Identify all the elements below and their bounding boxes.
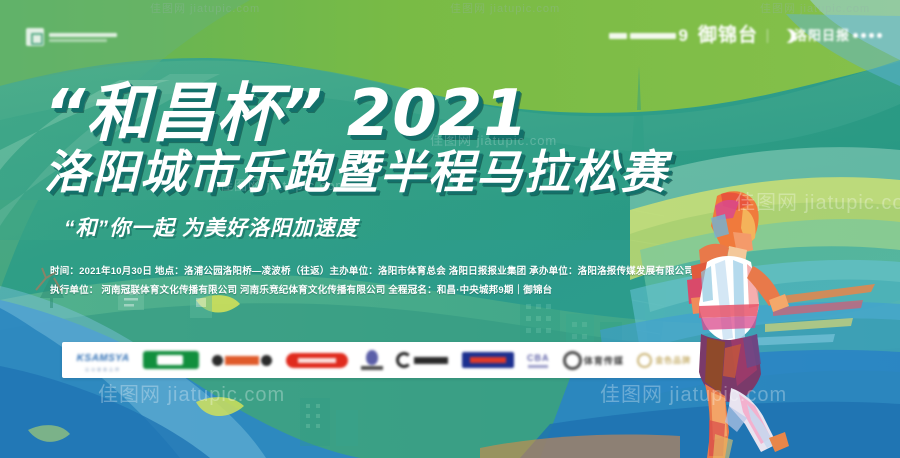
sponsor-logo-10: 金色品牌 (637, 353, 691, 368)
event-info-block: 时间：2021年10月30日 地点：洛浦公园洛阳桥—凌波桥（往返）主办单位：洛阳… (50, 262, 694, 300)
title-line-1: “和昌杯” 2021 (44, 82, 744, 146)
sponsor-logo-9: 体育传媒 (563, 351, 624, 370)
logo-hechang-central-city: 9 (609, 27, 689, 44)
sponsor-logo-6 (396, 352, 448, 368)
hechang-wordmark (49, 33, 117, 42)
sponsor-logo-5 (361, 350, 383, 370)
poster-title-block: “和昌杯” 2021 洛阳城市乐跑暨半程马拉松赛 “和”你一起 为美好洛阳加速度 (44, 82, 744, 242)
runner-illustration (685, 188, 900, 458)
sponsor-logo-8: CBA (527, 353, 550, 368)
hechang-mark-icon (26, 28, 44, 46)
sponsor-logo-7 (462, 352, 514, 368)
sponsor-logo-3 (212, 355, 272, 366)
sponsor-logo-4 (286, 353, 348, 368)
title-subtitle: “和”你一起 为美好洛阳加速度 (64, 212, 744, 242)
title-line-2: 洛阳城市乐跑暨半程马拉松赛 (44, 148, 744, 196)
title-brand: “和昌杯” 2021 (44, 77, 529, 151)
event-info-line-2: 执行单位： 河南冠联体育文化传播有限公司 河南乐竞纪体育文化传播有限公司 全程冠… (50, 281, 694, 300)
logo-yujintai: 御锦台 (698, 26, 758, 45)
moon-icon (777, 29, 791, 43)
sponsor-logo-top-left (26, 28, 117, 46)
sponsor-logo-2 (143, 351, 199, 369)
event-info-line-1: 时间：2021年10月30日 地点：洛浦公园洛阳桥—凌波桥（往返）主办单位：洛阳… (50, 262, 694, 281)
sponsor-logo-strip: KSAMSYA运动健康品牌 CBA 体育传媒 金色品牌 (62, 342, 706, 378)
logo-divider (767, 29, 768, 43)
marathon-poster: 9 御锦台 洛阳日报 “和昌杯” 2021 洛阳城市乐跑暨半程马拉松赛 “和”你… (0, 0, 900, 458)
logo-luoyang-daily: 洛阳日报 (777, 29, 882, 43)
sponsor-logos-top-right: 9 御锦台 洛阳日报 (609, 26, 883, 45)
sponsor-logo-1: KSAMSYA运动健康品牌 (77, 348, 130, 373)
